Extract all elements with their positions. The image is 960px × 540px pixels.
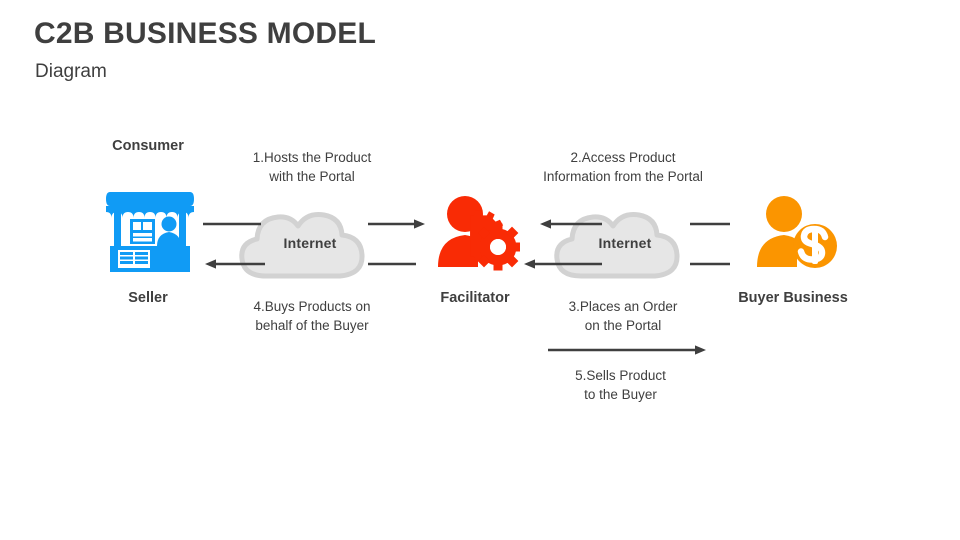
step-caption-3: 3.Places an Order on the Portal bbox=[513, 297, 733, 335]
page-title: C2B BUSINESS MODEL bbox=[34, 17, 376, 51]
node-label-buyer-business: Buyer Business bbox=[718, 290, 868, 306]
node-label-consumer: Consumer bbox=[88, 138, 208, 154]
node-label-seller: Seller bbox=[88, 290, 208, 306]
arrow-cloud-left-to-seller bbox=[205, 258, 265, 270]
page-subtitle: Diagram bbox=[35, 61, 107, 83]
step-caption-4: 4.Buys Products on behalf of the Buyer bbox=[212, 297, 412, 335]
cloud-label-left: Internet bbox=[230, 198, 390, 288]
arrow-cloud-right-to-facilitator bbox=[540, 218, 602, 230]
arrow-facilitator-to-buyer-sells bbox=[548, 344, 706, 356]
arrow-cloud-left-to-facilitator bbox=[368, 218, 426, 230]
person-gear-icon bbox=[434, 195, 520, 275]
cloud-internet-right: Internet bbox=[545, 198, 705, 288]
step-caption-1: 1.Hosts the Product with the Portal bbox=[212, 148, 412, 186]
connector-buyer-to-cloud-right bbox=[690, 218, 732, 230]
cloud-label-right: Internet bbox=[545, 198, 705, 288]
person-dollar-icon bbox=[753, 195, 839, 275]
step-caption-2: 2.Access Product Information from the Po… bbox=[513, 148, 733, 186]
connector-seller-to-cloud-left bbox=[203, 218, 263, 230]
connector-facilitator-to-cloud-left bbox=[368, 258, 418, 270]
connector-buyer-to-cloud-right-lower bbox=[690, 258, 732, 270]
market-stall-icon bbox=[104, 186, 196, 278]
step-caption-5: 5.Sells Product to the Buyer bbox=[513, 366, 728, 404]
arrow-cloud-right-to-facilitator-order bbox=[524, 258, 602, 270]
cloud-internet-left: Internet bbox=[230, 198, 390, 288]
slide-canvas: C2B BUSINESS MODEL Diagram Consumer Sell… bbox=[0, 0, 960, 540]
